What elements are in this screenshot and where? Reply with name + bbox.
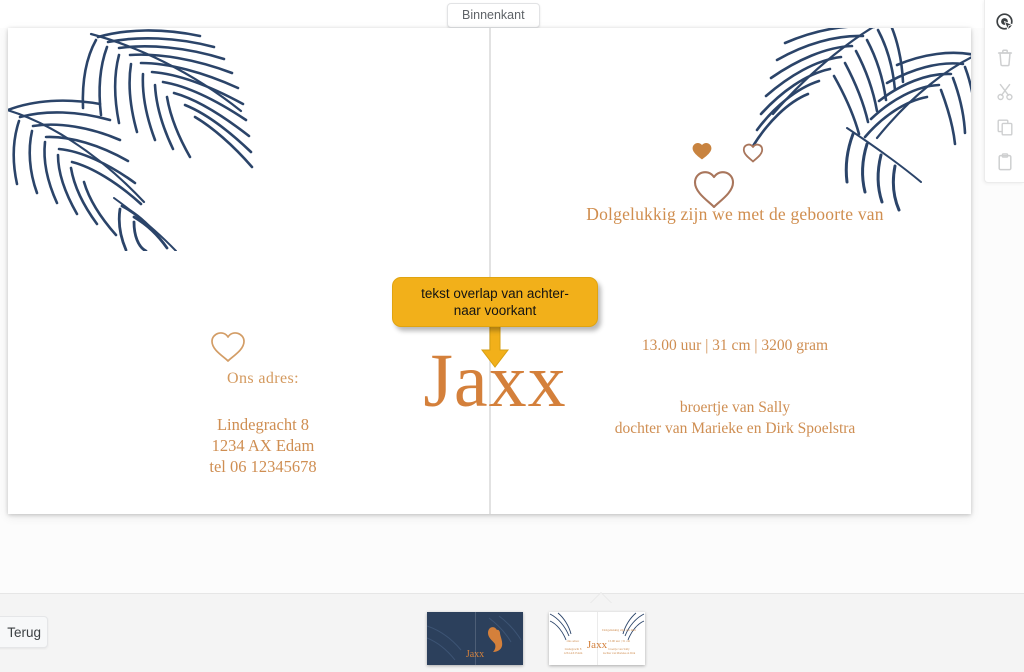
right-toolbar <box>984 0 1024 183</box>
app-root: Binnenkant <box>0 0 1024 672</box>
top-bar: Binnenkant <box>0 0 1024 28</box>
annotation-callout-text: tekst overlap van achter- naar voorkant <box>421 285 569 319</box>
svg-text:1234 AX Edam: 1234 AX Edam <box>564 651 583 655</box>
callout-line-2: naar voorkant <box>454 303 537 318</box>
heart-outline-icon <box>208 328 248 362</box>
svg-text:Dolgelukkig zijn we met: Dolgelukkig zijn we met <box>602 628 636 632</box>
thumbnail-cover-preview: Jaxx <box>427 612 523 665</box>
annotation-down-arrow-icon <box>479 324 511 368</box>
copy-icon[interactable] <box>988 110 1022 144</box>
paste-icon[interactable] <box>988 145 1022 179</box>
cut-icon[interactable] <box>988 75 1022 109</box>
card-spread[interactable]: Dolgelukkig zijn we met de geboorte van … <box>8 28 971 514</box>
back-button[interactable]: Terug <box>0 616 48 648</box>
card-address-block: Lindegracht 8 1234 AX Edam tel 06 123456… <box>68 414 458 477</box>
card-headline: Dolgelukkig zijn we met de geboorte van <box>500 204 970 225</box>
delete-icon[interactable] <box>988 40 1022 74</box>
thumbnail-inside[interactable]: Dolgelukkig zijn we met 13.00 uur | 31 c… <box>549 612 645 665</box>
hearts-decoration-graphic <box>668 133 788 208</box>
thumbnail-cover[interactable]: Jaxx <box>427 612 523 665</box>
callout-line-1: tekst overlap van achter- <box>421 286 569 301</box>
svg-text:13.00 uur | 31 cm: 13.00 uur | 31 cm <box>608 639 631 643</box>
svg-text:broertje van Sally: broertje van Sally <box>608 647 630 651</box>
canvas-area[interactable]: Dolgelukkig zijn we met de geboorte van … <box>0 28 1024 593</box>
select-tool-icon[interactable] <box>988 5 1022 39</box>
selected-thumbnail-notch <box>590 593 612 604</box>
tab-binnenkant[interactable]: Binnenkant <box>447 3 540 28</box>
card-parents-line: dochter van Marieke en Dirk Spoelstra <box>500 420 970 438</box>
annotation-callout: tekst overlap van achter- naar voorkant <box>392 277 598 327</box>
address-line-3: tel 06 12345678 <box>68 456 458 477</box>
thumbnail-inside-preview: Dolgelukkig zijn we met 13.00 uur | 31 c… <box>549 612 645 665</box>
bottom-controls: Spreadview ▾ 100% ▾ <box>0 520 1024 592</box>
svg-text:dochter van Marieke en Dirk: dochter van Marieke en Dirk <box>603 652 636 655</box>
palm-leaf-top-left-graphic <box>8 28 276 251</box>
svg-text:Ons adres:: Ons adres: <box>567 639 580 643</box>
fold-line <box>489 28 491 514</box>
address-line-2: 1234 AX Edam <box>68 435 458 456</box>
